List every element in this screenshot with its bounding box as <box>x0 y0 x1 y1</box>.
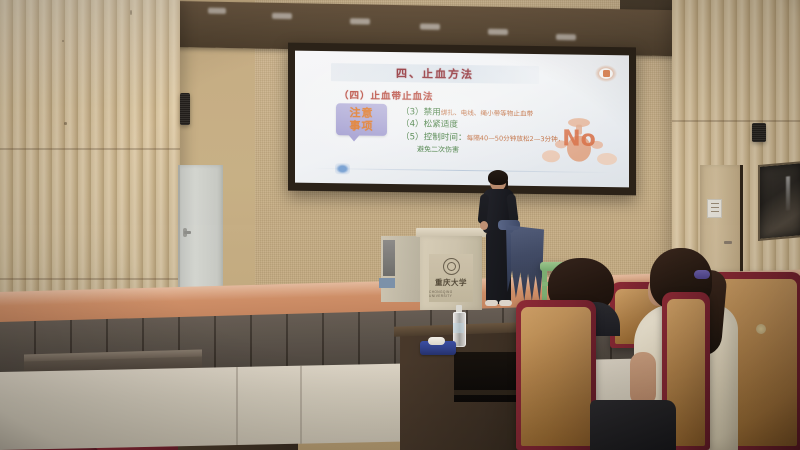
bullet-main-4: （4）松紧适度 <box>401 120 458 131</box>
slide-title: 四、止血方法 <box>331 63 539 84</box>
presenter-shoe-left <box>485 300 498 306</box>
attention-badge: 注意 事项 <box>336 103 387 136</box>
svg-text:No: No <box>562 126 596 151</box>
projection-screen[interactable]: 四、止血方法 （四）止血带止血法 注意 事项 （3）禁用绑扎、电线、绳小带等物止… <box>295 51 629 188</box>
podium-body: 重庆大学 CHONGQING UNIVERSITY <box>420 236 482 310</box>
dark-bag[interactable] <box>590 400 676 450</box>
presenter-hand-left <box>480 221 488 230</box>
equipment-panel <box>383 240 395 276</box>
slide-subtitle: （四）止血带止血法 <box>339 87 434 102</box>
presenter-shoe-right <box>499 300 512 306</box>
university-emblem-icon <box>443 258 460 275</box>
stool-leg <box>542 270 547 304</box>
attention-badge-line1: 注意 <box>350 106 374 119</box>
lecture-hall-photo: 四、止血方法 （四）止血带止血法 注意 事项 （3）禁用绑扎、电线、绳小带等物止… <box>0 0 800 450</box>
hair-tie <box>694 270 710 279</box>
bullet-tail-3: 绑扎、电线、绳小带等物止血带 <box>441 109 533 118</box>
wall-speaker-left <box>180 93 190 125</box>
bullet-main-3: （3）禁用 <box>401 107 441 118</box>
presenter-hair <box>488 170 508 185</box>
lectern-podium: 重庆大学 CHONGQING UNIVERSITY <box>420 228 482 310</box>
projection-screen-frame: 四、止血方法 （四）止血带止血法 注意 事项 （3）禁用绑扎、电线、绳小带等物止… <box>288 43 636 196</box>
water-bottle[interactable] <box>453 305 464 345</box>
podium-university-name-en: CHONGQING UNIVERSITY <box>429 290 473 298</box>
podium-emblem-plate: 重庆大学 CHONGQING UNIVERSITY <box>429 254 473 302</box>
slide-logo-top-right <box>595 65 617 82</box>
seat-stud <box>756 324 766 334</box>
podium-university-name-cn: 重庆大学 <box>435 277 467 288</box>
equipment-blue-item <box>379 278 395 288</box>
attention-badge-line2: 事项 <box>350 119 374 132</box>
slide-logo-bottom-left <box>335 163 350 174</box>
no-prohibition-illustration: No <box>537 112 621 175</box>
auditorium-seat[interactable] <box>516 300 596 450</box>
presentation-slide: 四、止血方法 （四）止血带止血法 注意 事项 （3）禁用绑扎、电线、绳小带等物止… <box>295 51 629 188</box>
door-handle-left[interactable] <box>184 231 191 234</box>
door-handle-right[interactable] <box>724 241 732 244</box>
bullet-main-5: （5）控制时间： <box>401 132 467 143</box>
folded-blue-cloth[interactable] <box>420 341 456 355</box>
projection-booth-window <box>758 161 800 241</box>
audience-arm <box>630 352 656 406</box>
white-item-on-cloth <box>428 337 445 345</box>
podium-side-equipment <box>381 236 421 302</box>
door-sign <box>707 199 722 218</box>
wall-speaker-right <box>752 123 766 142</box>
bottle-label <box>453 323 464 333</box>
